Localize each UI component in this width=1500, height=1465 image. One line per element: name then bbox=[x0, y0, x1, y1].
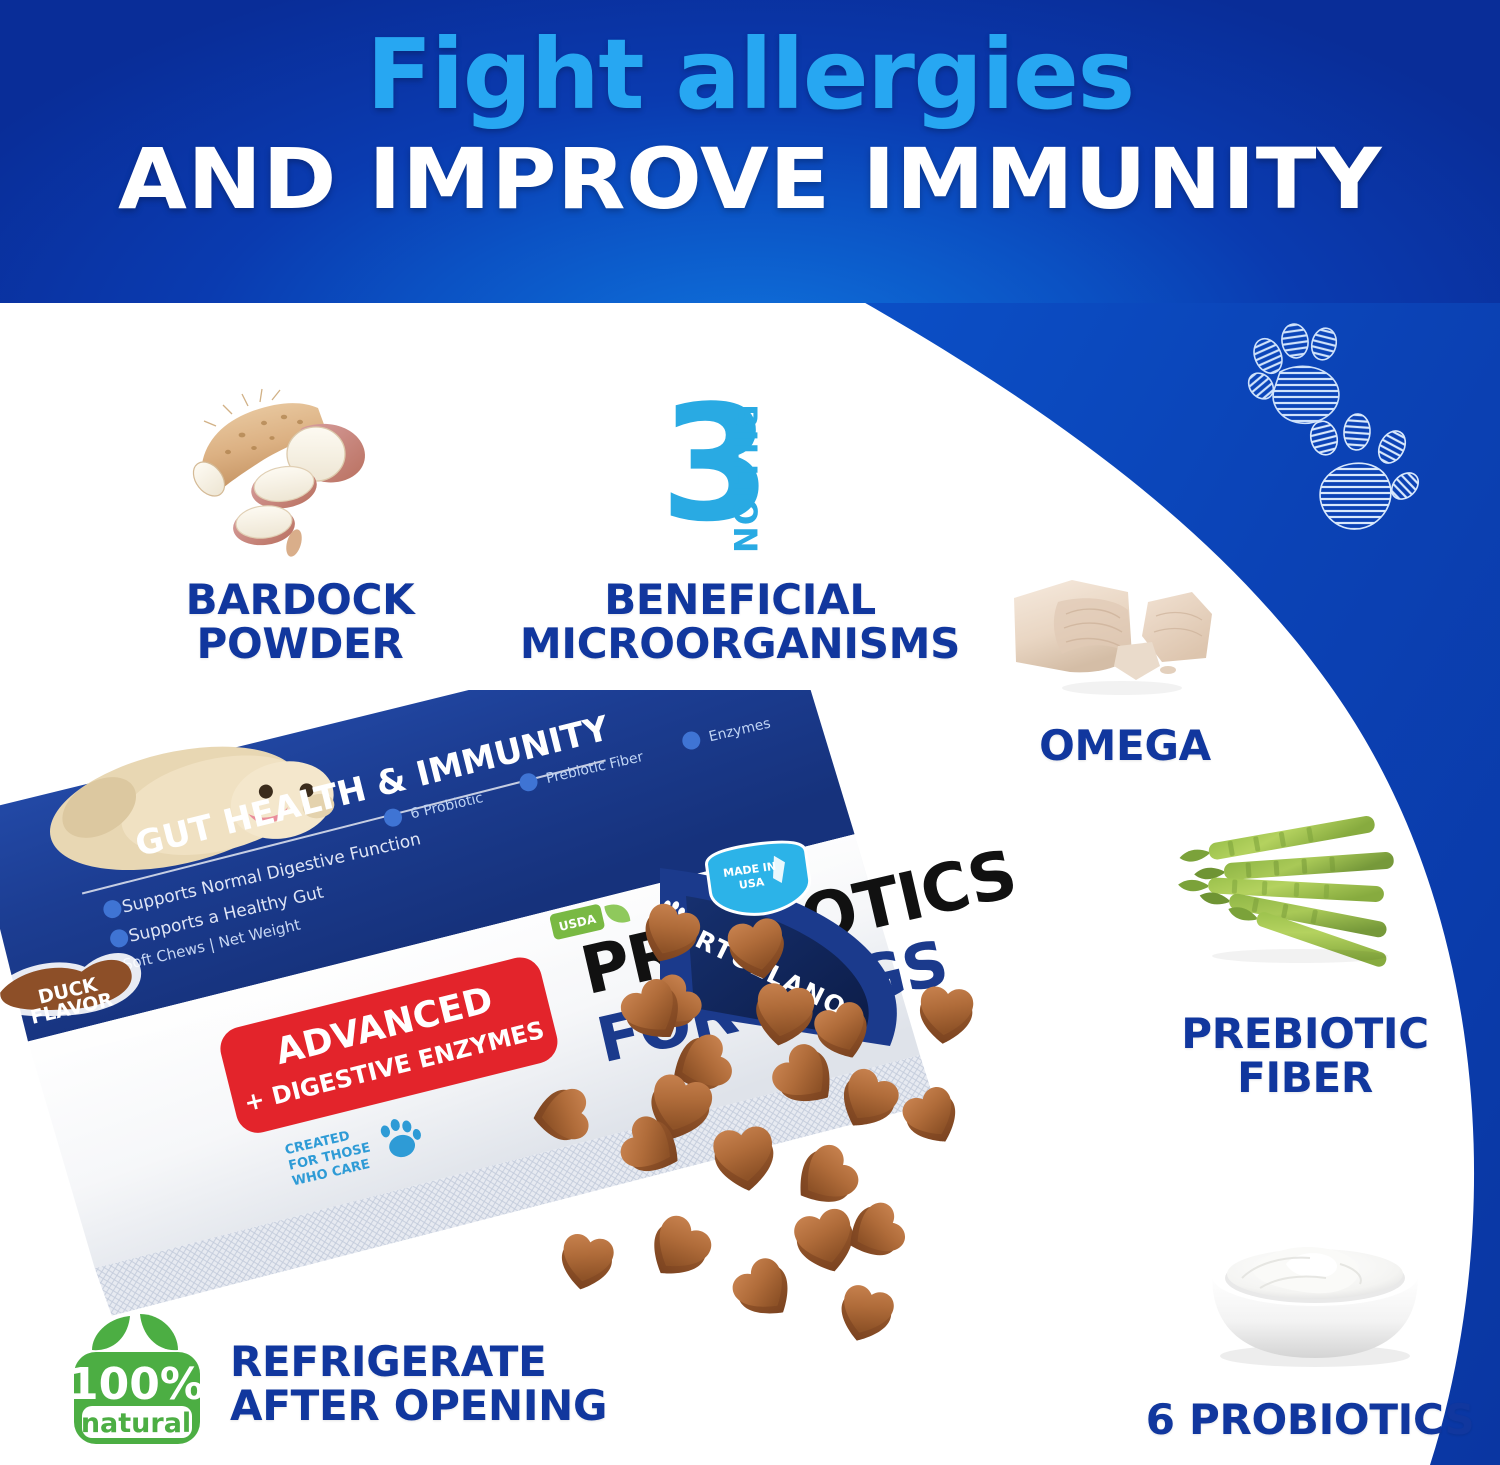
count-graphic: 3 BILLION bbox=[660, 398, 830, 558]
headline-primary: Fight allergies bbox=[0, 26, 1500, 123]
micro-line-2: MICROORGANISMS bbox=[520, 619, 960, 668]
prebiotic-line-1: PREBIOTIC bbox=[1181, 1009, 1429, 1058]
product-marketing-poster: Fight allergies AND IMPROVE IMMUNITY bbox=[0, 0, 1500, 1465]
benefit-label-microorganisms: BENEFICIAL MICROORGANISMS bbox=[480, 578, 1000, 665]
benefit-label-probiotics: 6 PROBIOTICS bbox=[1120, 1398, 1500, 1442]
headline-secondary: AND IMPROVE IMMUNITY bbox=[0, 137, 1500, 221]
asparagus-image bbox=[1170, 810, 1430, 970]
yogurt-bowl-image bbox=[1190, 1230, 1440, 1375]
benefit-label-prebiotic: PREBIOTIC FIBER bbox=[1150, 1012, 1460, 1099]
micro-line-1: BENEFICIAL bbox=[604, 575, 876, 624]
count-unit: BILLION bbox=[726, 404, 764, 554]
benefit-label-bardock: BARDOCK POWDER bbox=[150, 578, 450, 665]
burdock-root-image bbox=[176, 378, 406, 568]
header-banner: Fight allergies AND IMPROVE IMMUNITY bbox=[0, 0, 1500, 303]
bardock-line-1: BARDOCK bbox=[186, 575, 415, 624]
bardock-line-2: POWDER bbox=[197, 619, 404, 668]
refrigerate-line-2: AFTER OPENING bbox=[230, 1381, 607, 1430]
prebiotic-line-2: FIBER bbox=[1237, 1053, 1373, 1102]
natural-badge-word: natural bbox=[81, 1408, 191, 1439]
product-package: GUT HEALTH & IMMUNITY Supports Normal Di… bbox=[0, 690, 1050, 1370]
